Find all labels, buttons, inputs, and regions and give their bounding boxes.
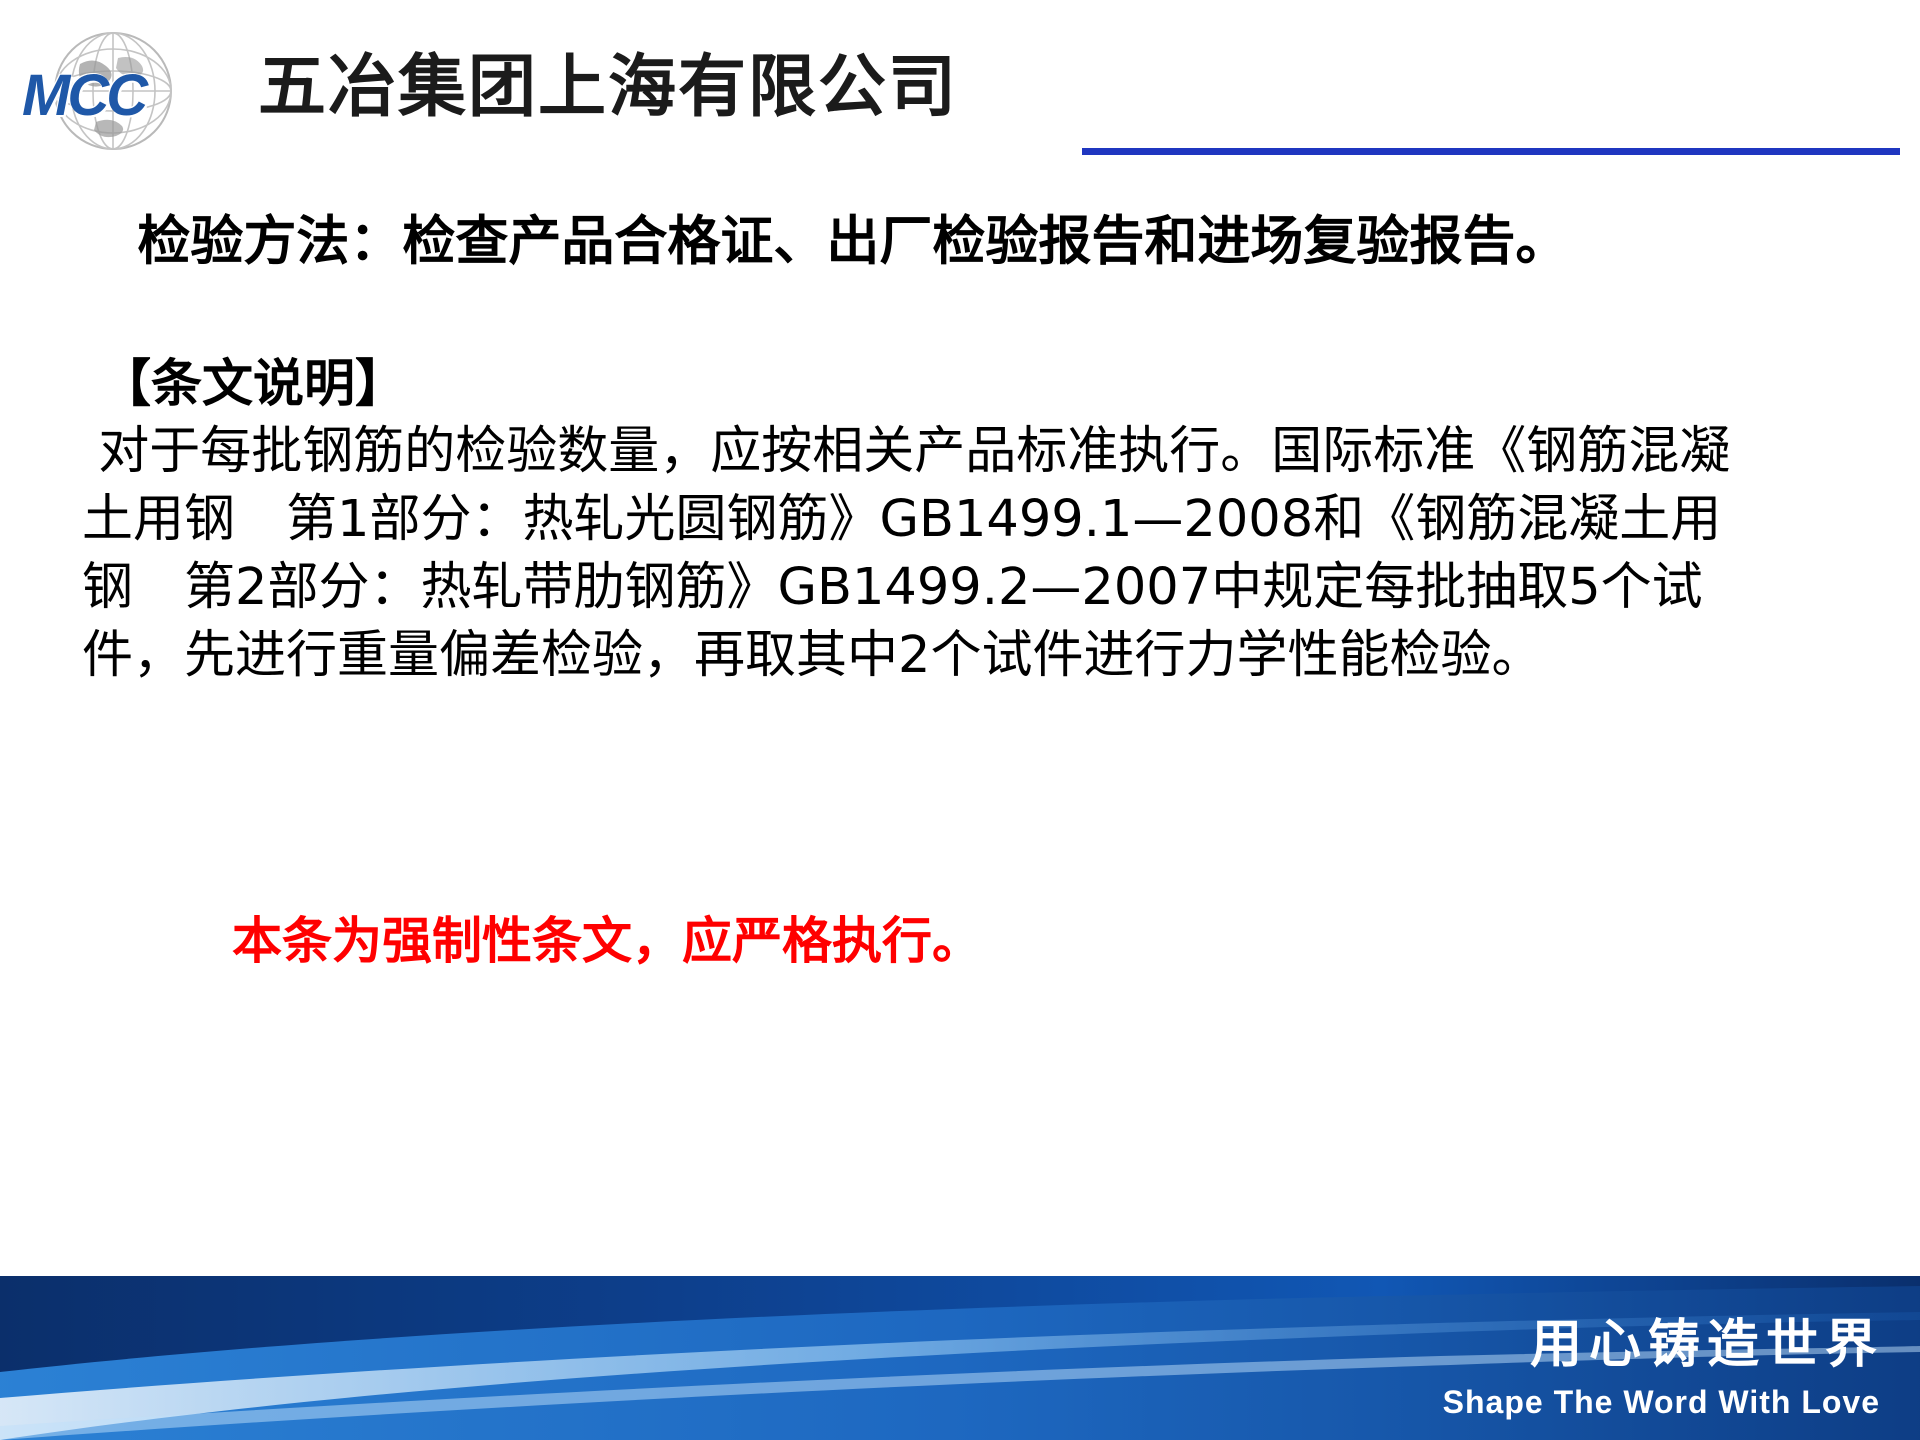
slide-header: MCC 五冶集团上海有限公司 <box>0 0 1920 175</box>
inspection-method-paragraph: 检验方法：检查产品合格证、出厂检验报告和进场复验报告。 <box>82 205 1742 278</box>
mandatory-clause-note: 本条为强制性条文，应严格执行。 <box>232 908 982 974</box>
mcc-wordmark: MCC <box>22 70 252 122</box>
header-divider <box>1082 148 1900 155</box>
company-name: 五冶集团上海有限公司 <box>258 48 958 128</box>
clause-explanation-heading: 【条文说明】 <box>100 352 406 418</box>
footer-slogan-cn: 用心铸造世界 <box>1530 1316 1884 1374</box>
slide: MCC 五冶集团上海有限公司 检验方法：检查产品合格证、出厂检验报告和进场复验报… <box>0 0 1920 1440</box>
footer-slogan-en: Shape The Word With Love <box>1443 1384 1880 1420</box>
mcc-logo: MCC <box>22 22 257 157</box>
clause-explanation-body: 对于每批钢筋的检验数量，应按相关产品标准执行。国际标准《钢筋混凝土用钢 第1部分… <box>82 418 1762 690</box>
slide-footer: 用心铸造世界 Shape The Word With Love <box>0 1276 1920 1440</box>
